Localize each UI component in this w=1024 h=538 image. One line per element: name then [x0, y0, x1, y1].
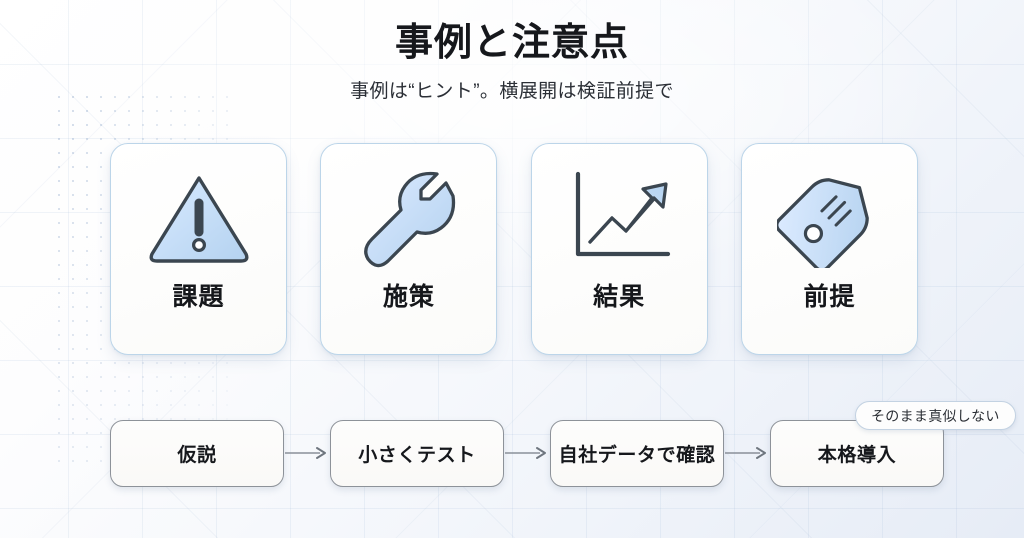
card-label: 課題: [172, 285, 224, 310]
card-zentei[interactable]: 前提: [741, 143, 918, 355]
wrench-icon: [357, 144, 461, 285]
page-subtitle: 事例は“ヒント”。横展開は検証前提で: [0, 76, 1024, 103]
arrow-right-icon: [284, 446, 330, 460]
card-label: 前提: [803, 285, 855, 310]
card-label: 結果: [593, 285, 645, 310]
slide-header: 事例と注意点 事例は“ヒント”。横展開は検証前提で: [0, 22, 1024, 103]
page-title: 事例と注意点: [0, 22, 1024, 66]
callout-badge-text: そのまま真似しない: [871, 406, 1000, 426]
growth-chart-icon: [564, 144, 674, 285]
card-sisaku[interactable]: 施策: [320, 143, 497, 355]
flow-step-kasetsu[interactable]: 仮説: [110, 420, 284, 487]
warning-triangle-icon: [146, 144, 252, 285]
flow-step-label: 仮説: [157, 440, 236, 467]
flow-step-label: 自社データで確認: [539, 440, 736, 467]
process-flow: 仮説 小さくテスト 自社データで確認 本: [110, 420, 918, 486]
flow-step-small-test[interactable]: 小さくテスト: [330, 420, 504, 487]
price-tag-icon: [777, 144, 881, 285]
slide-canvas: 事例と注意点 事例は“ヒント”。横展開は検証前提で: [0, 0, 1024, 538]
arrow-right-icon: [724, 446, 770, 460]
flow-step-own-data-check[interactable]: 自社データで確認: [550, 420, 724, 487]
flow-step-label: 本格導入: [798, 440, 916, 467]
card-row: 課題 施策: [110, 143, 918, 353]
card-kadai[interactable]: 課題: [110, 143, 287, 355]
callout-badge: そのまま真似しない: [855, 401, 1016, 430]
flow-step-label: 小さくテスト: [338, 440, 496, 467]
card-label: 施策: [383, 285, 435, 310]
card-kekka[interactable]: 結果: [531, 143, 708, 355]
